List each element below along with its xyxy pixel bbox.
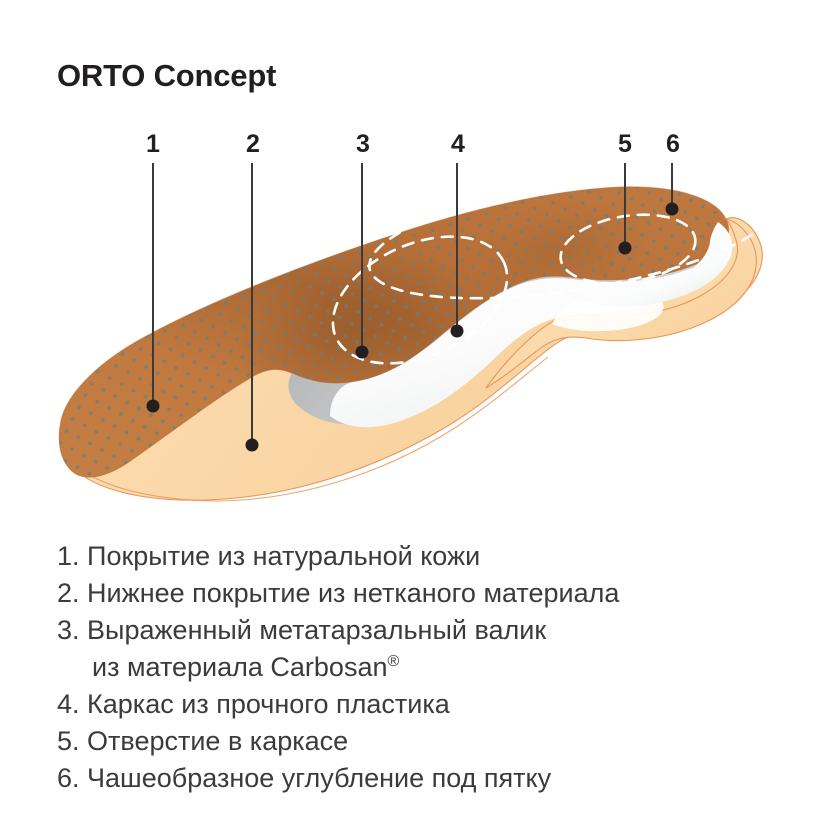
page-root: ORTO Concept <box>0 0 816 816</box>
callout-dot-3 <box>356 346 369 359</box>
legend-index-6: 6. <box>57 763 80 793</box>
legend-text-6: Чашеобразное углубление под пятку <box>87 763 551 793</box>
callout-label-6: 6 <box>666 130 680 159</box>
legend-item-3-continuation: из материала Carbosan® <box>57 649 777 686</box>
legend-text-4: Каркас из прочного пластика <box>87 689 450 719</box>
legend-list: 1. Покрытие из натуральной кожи 2. Нижне… <box>57 538 777 797</box>
legend-item-4: 4. Каркас из прочного пластика <box>57 686 777 723</box>
callout-label-3: 3 <box>356 130 370 159</box>
legend-text-5: Отверстие в каркасе <box>87 726 348 756</box>
legend-text-3: Выраженный метатарзальный валик <box>87 615 546 645</box>
callout-label-1: 1 <box>146 130 160 159</box>
callout-label-4: 4 <box>451 130 465 159</box>
legend-item-5: 5. Отверстие в каркасе <box>57 723 777 760</box>
registered-trademark-symbol: ® <box>387 653 399 670</box>
insole-figure <box>0 0 816 530</box>
legend-item-2: 2. Нижнее покрытие из нетканого материал… <box>57 575 777 612</box>
callout-label-5: 5 <box>618 130 632 159</box>
callout-label-2: 2 <box>246 130 260 159</box>
callout-dot-2 <box>246 439 259 452</box>
callout-dot-1 <box>147 400 160 413</box>
callout-dot-6 <box>666 203 679 216</box>
legend-index-2: 2. <box>57 578 80 608</box>
legend-item-3: 3. Выраженный метатарзальный валик <box>57 612 777 649</box>
callout-dot-4 <box>451 325 464 338</box>
legend-index-3: 3. <box>57 615 80 645</box>
legend-text-1: Покрытие из натуральной кожи <box>87 541 480 571</box>
legend-index-5: 5. <box>57 726 80 756</box>
legend-text-3-continuation: из материала Carbosan <box>92 652 387 682</box>
legend-index-4: 4. <box>57 689 80 719</box>
legend-text-2: Нижнее покрытие из нетканого материала <box>87 578 619 608</box>
legend-item-6: 6. Чашеобразное углубление под пятку <box>57 760 777 797</box>
legend-index-1: 1. <box>57 541 80 571</box>
legend-item-1: 1. Покрытие из натуральной кожи <box>57 538 777 575</box>
callout-dot-5 <box>619 242 632 255</box>
